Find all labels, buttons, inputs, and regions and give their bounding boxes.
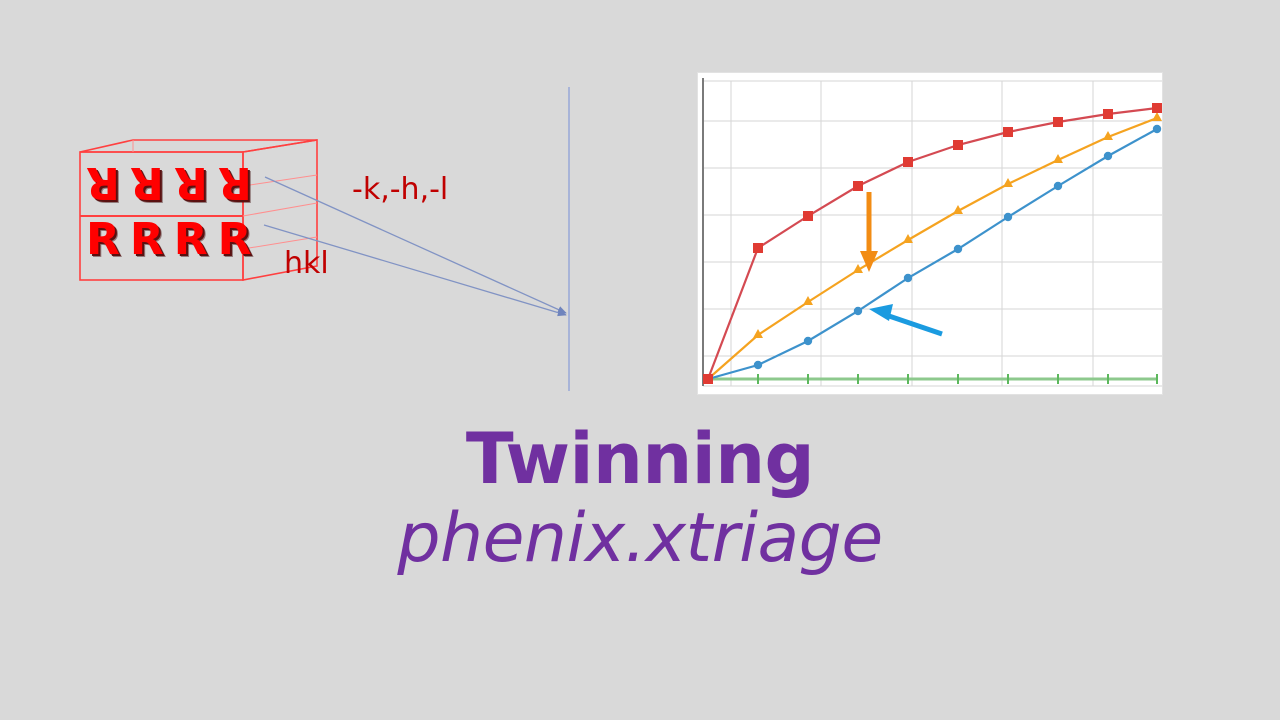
twin-operator-label: -k,-h,-l xyxy=(352,172,448,207)
glyph-r-twin: R xyxy=(86,160,120,204)
glyph-r-original: R xyxy=(130,218,164,262)
slide-root: R R R R R R R R -k,-h,-l hkl Twinning ph… xyxy=(0,0,1280,720)
lattice-glyph-row-original: R R R R xyxy=(86,218,252,262)
glyph-r-original: R xyxy=(218,218,252,262)
glyph-r-original: R xyxy=(174,218,208,262)
glyph-r-original: R xyxy=(86,218,120,262)
diagram-overlay xyxy=(0,0,1280,720)
title-block: Twinning phenix.xtriage xyxy=(0,424,1280,575)
lattice-glyph-row-twin: R R R R xyxy=(86,160,252,204)
page-title: Twinning xyxy=(0,424,1280,495)
original-index-label: hkl xyxy=(284,246,329,281)
glyph-r-twin: R xyxy=(130,160,164,204)
glyph-r-twin: R xyxy=(174,160,208,204)
glyph-r-twin: R xyxy=(218,160,252,204)
page-subtitle: phenix.xtriage xyxy=(0,503,1280,574)
